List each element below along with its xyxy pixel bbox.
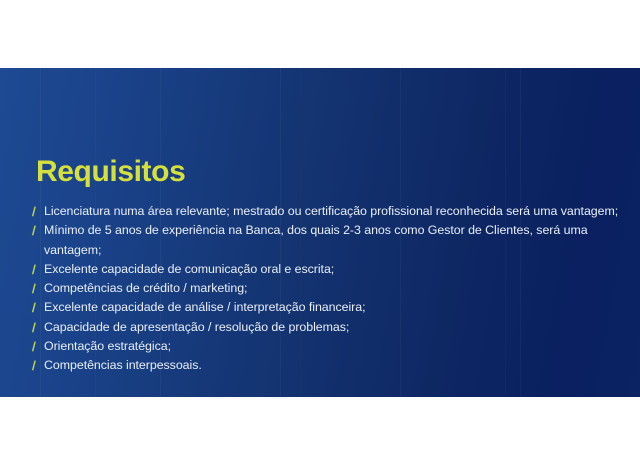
list-item-label: Orientação estratégica; (44, 337, 620, 356)
slash-bullet-icon: / (31, 337, 44, 356)
list-item-label: Competências interpessoais. (44, 356, 620, 375)
slash-bullet-icon: / (31, 202, 44, 221)
list-item-label: Competências de crédito / marketing; (44, 279, 620, 298)
blue-banner-panel: Requisitos / Licenciatura numa área rele… (0, 68, 640, 397)
slide-canvas: Requisitos / Licenciatura numa área rele… (0, 0, 640, 470)
slash-bullet-icon: / (31, 318, 44, 337)
requirements-list: / Licenciatura numa área relevante; mest… (32, 202, 620, 376)
list-item: / Excelente capacidade de análise / inte… (32, 298, 620, 317)
list-item-label: Mínimo de 5 anos de experiência na Banca… (44, 221, 620, 260)
slash-bullet-icon: / (31, 221, 44, 240)
list-item: / Licenciatura numa área relevante; mest… (32, 202, 620, 221)
slash-bullet-icon: / (31, 298, 44, 317)
slash-bullet-icon: / (31, 356, 44, 375)
slash-bullet-icon: / (31, 260, 44, 279)
list-item: / Orientação estratégica; (32, 337, 620, 356)
page-title: Requisitos (36, 155, 185, 189)
list-item: / Excelente capacidade de comunicação or… (32, 260, 620, 279)
list-item: / Competências de crédito / marketing; (32, 279, 620, 298)
list-item: / Mínimo de 5 anos de experiência na Ban… (32, 221, 620, 260)
list-item-label: Excelente capacidade de análise / interp… (44, 298, 620, 317)
slash-bullet-icon: / (31, 279, 44, 298)
list-item: / Capacidade de apresentação / resolução… (32, 318, 620, 337)
list-item-label: Licenciatura numa área relevante; mestra… (44, 202, 620, 221)
list-item-label: Excelente capacidade de comunicação oral… (44, 260, 620, 279)
list-item: / Competências interpessoais. (32, 356, 620, 375)
banner-content: Requisitos / Licenciatura numa área rele… (0, 68, 640, 397)
list-item-label: Capacidade de apresentação / resolução d… (44, 318, 620, 337)
